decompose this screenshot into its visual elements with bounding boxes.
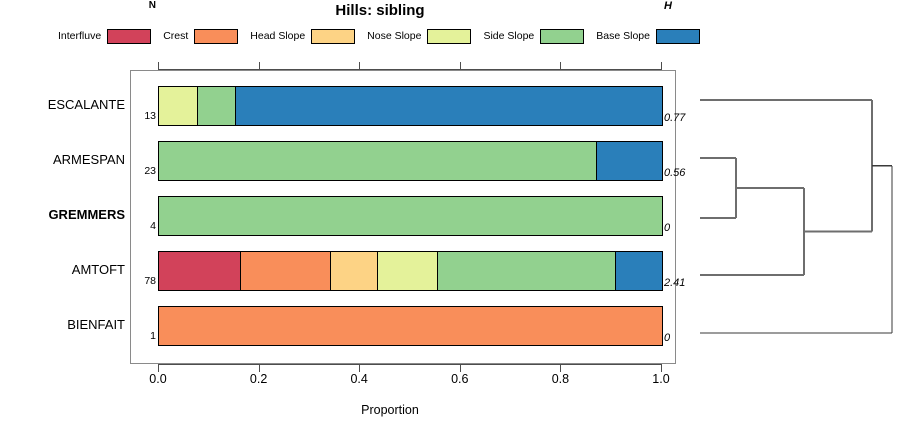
stacked-bar[interactable]: [158, 86, 663, 126]
page-title: Hills: sibling: [0, 2, 760, 19]
x-axis-tick: [259, 364, 260, 372]
row-category-label: ESCALANTE: [0, 97, 125, 112]
stacked-bar[interactable]: [158, 141, 663, 181]
stacked-bar[interactable]: [158, 251, 663, 291]
x-axis-tick: [359, 364, 360, 372]
x-axis-tick: [158, 364, 159, 372]
legend-item-label: Head Slope: [250, 30, 305, 42]
legend-item[interactable]: Interfluve: [58, 29, 151, 44]
row-n-value: 1: [134, 330, 156, 342]
bar-segment[interactable]: [159, 197, 662, 235]
row-category-label: GREMMERS: [0, 207, 125, 222]
legend-color-swatch: [427, 29, 471, 44]
chart-root: Hills: sibling InterfluveCrestHead Slope…: [0, 0, 900, 440]
row-category-label: AMTOFT: [0, 262, 125, 277]
stacked-bar[interactable]: [158, 196, 663, 236]
row-category-label: ARMESPAN: [0, 152, 125, 167]
row-n-value: 4: [134, 220, 156, 232]
bar-segment[interactable]: [198, 87, 237, 125]
axis-top-line: [158, 69, 661, 70]
x-axis-tick-top: [460, 62, 461, 70]
bar-segment[interactable]: [159, 252, 241, 290]
legend-color-swatch: [194, 29, 238, 44]
x-axis-tick-top: [158, 62, 159, 70]
x-axis-tick-label: 0.6: [440, 372, 480, 386]
x-axis-tick-label: 1.0: [641, 372, 681, 386]
row-category-label: BIENFAIT: [0, 317, 125, 332]
legend-item-label: Side Slope: [483, 30, 534, 42]
stacked-bar[interactable]: [158, 306, 663, 346]
x-axis-tick-label: 0.4: [339, 372, 379, 386]
legend-item[interactable]: Base Slope: [596, 29, 700, 44]
bar-segment[interactable]: [159, 87, 198, 125]
row-n-value: 23: [134, 165, 156, 177]
x-axis-tick-top: [359, 62, 360, 70]
legend-color-swatch: [540, 29, 584, 44]
bar-segment[interactable]: [331, 252, 378, 290]
n-column-header: N: [134, 0, 156, 11]
legend-color-swatch: [311, 29, 355, 44]
legend-item-label: Nose Slope: [367, 30, 421, 42]
x-axis-line: [158, 364, 661, 365]
x-axis-tick: [560, 364, 561, 372]
dendrogram-svg: [676, 60, 900, 380]
bar-segment[interactable]: [241, 252, 331, 290]
x-axis-title: Proportion: [0, 403, 780, 417]
legend-color-swatch: [107, 29, 151, 44]
row-n-value: 78: [134, 275, 156, 287]
bar-segment[interactable]: [159, 142, 597, 180]
legend: InterfluveCrestHead SlopeNose SlopeSide …: [58, 26, 770, 46]
legend-item[interactable]: Head Slope: [250, 29, 355, 44]
x-axis-tick-top: [259, 62, 260, 70]
legend-item[interactable]: Crest: [163, 29, 238, 44]
x-axis-tick: [661, 364, 662, 372]
bar-segment[interactable]: [438, 252, 615, 290]
bar-segment[interactable]: [159, 307, 662, 345]
legend-item-label: Base Slope: [596, 30, 650, 42]
dendrogram: [676, 60, 900, 380]
bar-segment[interactable]: [378, 252, 438, 290]
h-column-header: H: [664, 0, 698, 12]
x-axis-tick: [460, 364, 461, 372]
legend-color-swatch: [656, 29, 700, 44]
legend-item[interactable]: Nose Slope: [367, 29, 471, 44]
x-axis-tick-label: 0.2: [239, 372, 279, 386]
bar-segment[interactable]: [597, 142, 662, 180]
bar-segment[interactable]: [616, 252, 662, 290]
x-axis-tick-top: [661, 62, 662, 70]
row-n-value: 13: [134, 110, 156, 122]
x-axis-tick-top: [560, 62, 561, 70]
legend-item-label: Interfluve: [58, 30, 101, 42]
x-axis-tick-label: 0.0: [138, 372, 178, 386]
legend-item[interactable]: Side Slope: [483, 29, 584, 44]
legend-item-label: Crest: [163, 30, 188, 42]
x-axis-tick-label: 0.8: [540, 372, 580, 386]
bar-segment[interactable]: [236, 87, 662, 125]
